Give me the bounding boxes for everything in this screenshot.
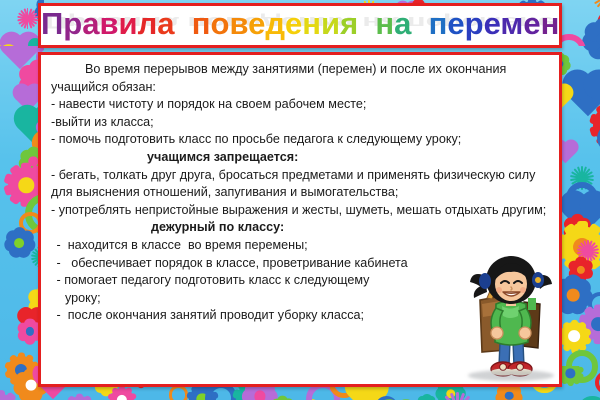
rule-paragraph-heading-monitor: дежурный по классу: [51, 219, 549, 237]
title-letter-11: е [248, 6, 265, 41]
ring-decor [578, 396, 600, 400]
title-letter-24: е [484, 6, 501, 41]
page-title: Правила поведения на перемене [41, 7, 559, 41]
title-letter-9: о [211, 6, 230, 41]
title-letter-22: е [447, 6, 464, 41]
starburst-decor [17, 8, 38, 29]
title-letter-1: р [63, 6, 82, 41]
title-letter-12: д [265, 6, 285, 41]
title-letter-28: е [559, 6, 562, 41]
title-letter-6: а [157, 6, 174, 41]
rule-paragraph-forbid-2: - употреблять непристойные выражения и ж… [51, 202, 549, 220]
title-letter-17 [358, 6, 375, 41]
title-letter-21: п [429, 6, 448, 41]
title-letter-3: в [99, 6, 118, 41]
flower-decor [269, 396, 296, 400]
heart-decor [0, 44, 16, 46]
title-letter-23: р [465, 6, 484, 41]
rule-paragraph-intro: Во время перерывов между занятиями (пере… [51, 61, 549, 96]
schoolgirl-svg [462, 254, 558, 382]
rule-paragraph-duty-2: -выйти из класса; [51, 114, 549, 132]
rule-paragraph-forbid-1: - бегать, толкать друг друга, бросаться … [51, 167, 549, 202]
title-letter-15: и [321, 6, 340, 41]
gear-flower-decor [560, 322, 588, 350]
ring-decor [169, 385, 188, 400]
poster-root: Правила поведения на перемене Правила по… [0, 0, 600, 400]
title-letter-8: п [192, 6, 211, 41]
title-plate: Правила поведения на перемене Правила по… [38, 3, 562, 48]
title-letter-20 [411, 6, 428, 41]
title-letter-0: П [41, 6, 63, 41]
gear-flower-decor [66, 396, 94, 400]
rule-paragraph-heading-forbidden: учащимся запрещается: [51, 149, 549, 167]
title-letter-7 [175, 6, 192, 41]
girl-ground-shadow [468, 370, 554, 381]
title-letter-5: л [138, 6, 158, 41]
title-letter-26: е [523, 6, 540, 41]
title-letter-10: в [229, 6, 248, 41]
title-letter-2: а [82, 6, 99, 41]
gear-flower-decor [559, 366, 581, 384]
title-letter-16: я [340, 6, 358, 41]
title-letter-19: а [394, 6, 411, 41]
rule-paragraph-monitor-1: - находится в классе во время перемены; [51, 237, 549, 255]
rule-paragraph-duty-3: - помочь подготовить класс по просьбе пе… [51, 131, 549, 149]
starburst-decor [439, 392, 476, 400]
title-letter-18: н [375, 6, 394, 41]
title-letter-4: и [119, 6, 138, 41]
schoolgirl-illustration [462, 254, 558, 382]
title-letter-14: н [302, 6, 321, 41]
title-letter-25: м [500, 6, 523, 41]
title-letter-13: е [285, 6, 302, 41]
title-letter-27: н [541, 6, 560, 41]
gear-flower-decor [110, 388, 135, 400]
rule-paragraph-duty-1: - навести чистоту и порядок на своем раб… [51, 96, 549, 114]
